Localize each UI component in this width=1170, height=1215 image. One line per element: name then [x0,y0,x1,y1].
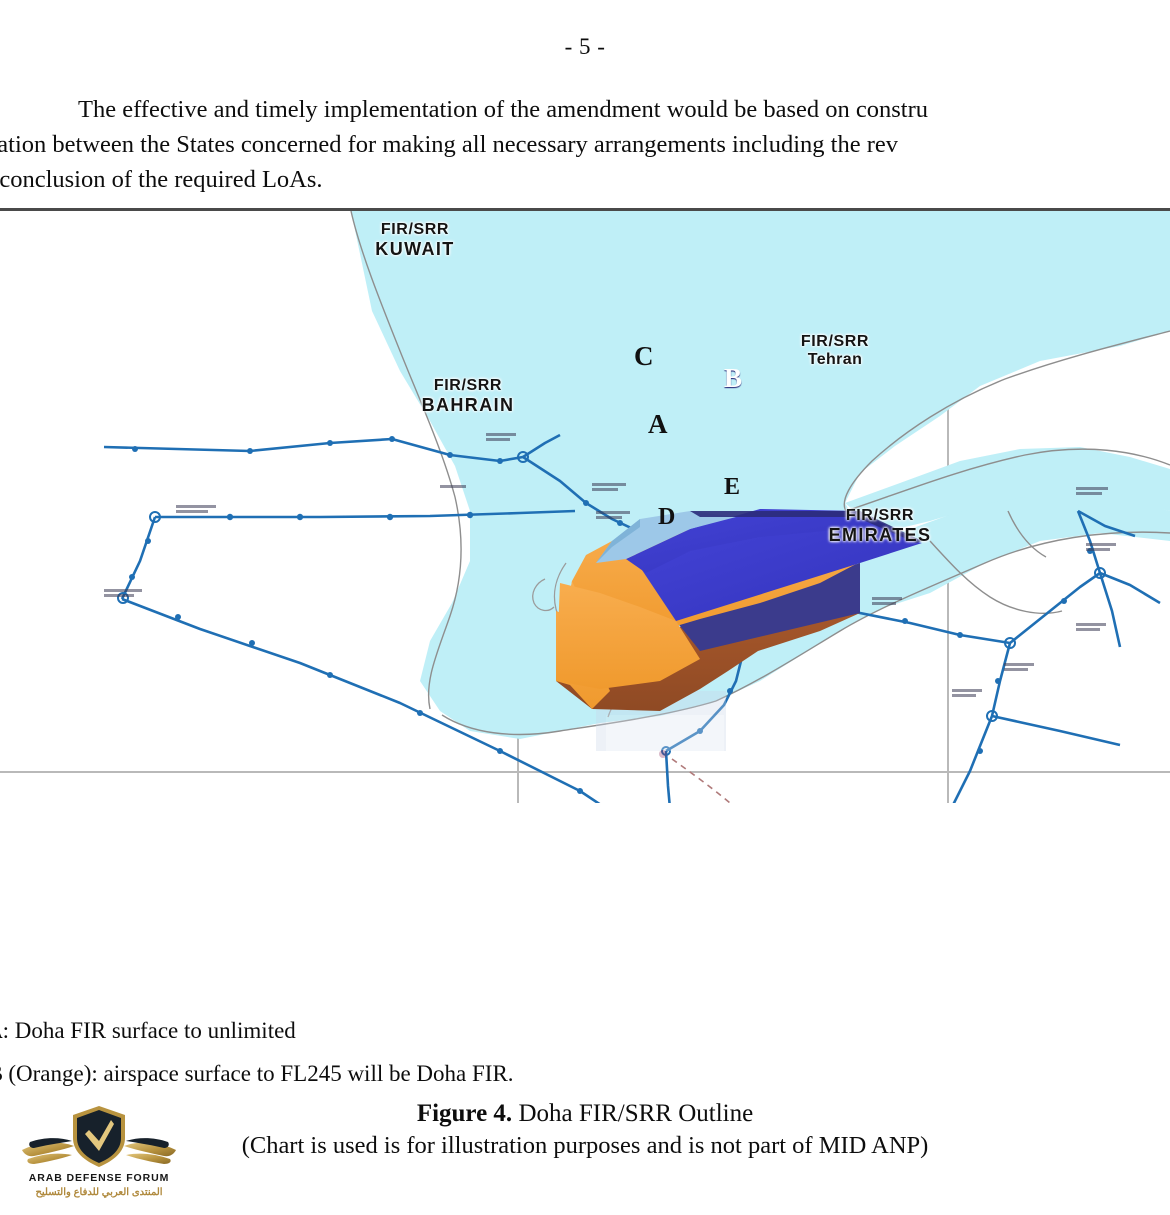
area-label-e: E [724,474,740,501]
figure-legend: a A: Doha FIR surface to unlimited a B (… [0,1009,1170,1091]
fir-label-tehran: FIR/SRR Tehran [760,333,910,369]
paragraph-line-1: The effective and timely implementation … [78,96,928,123]
fir-label-kuwait: FIR/SRR KUWAIT [330,221,500,259]
area-label-c: C [634,341,654,372]
legend-row-area-a: a A: Doha FIR surface to unlimited [0,1009,1170,1052]
area-label-b: B [724,363,742,394]
area-label-d: D [658,504,675,531]
shield-wings-icon [14,1104,184,1178]
area-label-a: A [648,409,668,440]
paragraph-line-3: /or conclusion of the required LoAs. [0,162,1170,197]
body-paragraph: 5The effective and timely implementation… [0,92,1170,197]
watermark-logo: ARAB DEFENSE FORUM المنتدى العربي للدفاع… [14,1104,184,1212]
watermark-name-ar: المنتدى العربي للدفاع والتسليح [14,1187,184,1198]
figure-block: FIR/SRR KUWAIT FIR/SRR BAHRAIN FIR/SRR T… [0,208,1170,1091]
dashed-boundary [672,759,752,803]
fir-label-bahrain: FIR/SRR BAHRAIN [378,377,558,415]
paragraph-number: 5 [0,92,78,127]
fir-label-emirates: FIR/SRR EMIRATES [790,507,970,545]
watermark-name-en: ARAB DEFENSE FORUM [14,1172,184,1184]
document-page: - 5 - 5The effective and timely implemen… [0,0,1170,1215]
paragraph-line-2: peration between the States concerned fo… [0,127,1170,162]
legend-row-area-b-orange: a B (Orange): airspace surface to FL245 … [0,1052,1170,1091]
map-graphics [0,211,1170,803]
sea-water [351,211,1170,739]
map-chart: FIR/SRR KUWAIT FIR/SRR BAHRAIN FIR/SRR T… [0,211,1170,803]
page-number: - 5 - [0,34,1170,60]
